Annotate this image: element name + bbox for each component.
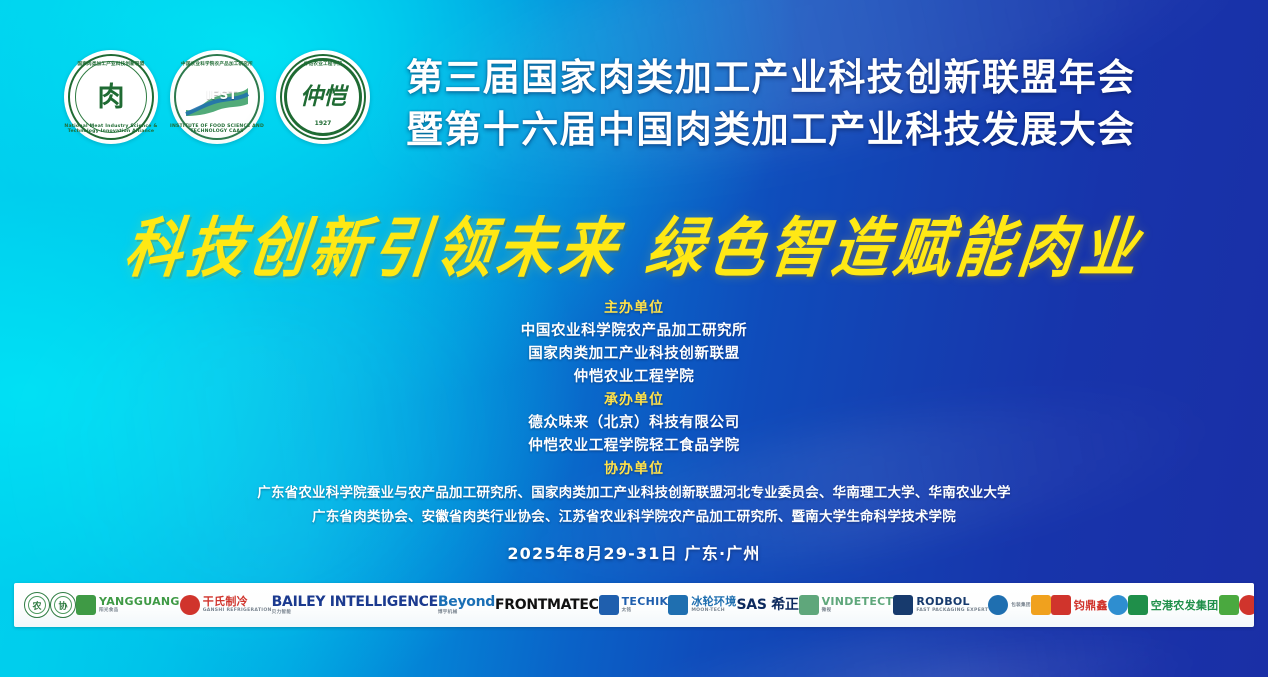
ifst-caas-emblem: 中国农业科学院农产品加工研究所 IFST INSTITUTE OF FOOD S… [170,50,264,144]
moon-tech-logo-text: 冰轮环境MOON-TECH [691,596,736,614]
green-circle-badge-1-mark: 农 [24,592,50,618]
emblem-glyph: IFST [206,88,238,102]
packaging-group-logo-subname: 包装集团 [1011,604,1031,609]
techik-logo-name: TECHIK [622,596,669,607]
ganshi-refrigeration-logo-mark [180,595,200,615]
sas-xizheng-logo-text: SAS 希正 [737,598,799,612]
sas-xizheng-logo: SAS 希正 [737,588,799,622]
junding-xin-logo-name: 钧鼎鑫 [1074,600,1108,611]
rodbol-logo-mark [893,595,913,615]
konggang-agri-logo-text: 空港农发集团 [1151,600,1219,611]
beyond-logo-subname: 博宇机械 [438,611,495,616]
title-line-2: 暨第十六届中国肉类加工产业科技发展大会 [406,104,1206,156]
event-date-location: 2025年8月29-31日 广东·广州 [0,540,1268,564]
host-item: 国家肉类加工产业科技创新联盟 [0,343,1268,366]
sponsor-logo-strip: 农协YANGGUANG阳光食品干氏制冷GANSHI REFRIGERATIONB… [14,583,1254,627]
rodbol-logo-name: RODBOL [916,596,988,607]
green-circle-badge-1: 农 [24,588,50,622]
zhongkai-university-emblem: 仲恺农业工程学院 仲恺 1927 [276,50,370,144]
bailey-intelligence-logo-name: BAILEY INTELLIGENCE [272,595,438,609]
konggang-agri-logo-mark [1128,595,1148,615]
sas-xizheng-logo-name: SAS 希正 [737,598,799,612]
ganshi-refrigeration-logo-subname: GANSHI REFRIGERATION [203,609,272,614]
frontmatec-logo: FRONTMATEC [495,588,599,622]
emblem-year: 1927 [276,120,370,127]
yangguang-logo: YANGGUANG阳光食品 [76,588,180,622]
emblem-micro-text: 中国农业科学院农产品加工研究所 [170,61,264,67]
organizer-logo-row: 国家肉类加工产业科技创新联盟 肉 National Meat Industry … [64,50,370,144]
seventy-hz-logo-mark [1239,595,1255,615]
packaging-group-logo-mark [988,595,1008,615]
techik-logo-text: TECHIK太铭 [622,596,669,614]
bailey-intelligence-logo: BAILEY INTELLIGENCE贝力智能 [272,588,438,622]
beyond-logo: Beyond博宇机械 [438,588,495,622]
packaging-group-logo-text: 包装集团 [1011,602,1031,609]
light-streak [698,624,1223,677]
green-bird-logo-mark [1219,595,1239,615]
coorganizer-heading: 协办单位 [0,458,1268,481]
date-location-text: 2025年8月29-31日 广东·广州 [507,544,760,563]
blue-drop-logo [1108,588,1128,622]
rodbol-logo: RODBOLFAST PACKAGING EXPERT [893,588,988,622]
badge-glyph: 协 [51,593,75,617]
moon-tech-logo: 冰轮环境MOON-TECH [668,588,736,622]
moon-tech-logo-name: 冰轮环境 [691,596,736,607]
green-bird-logo [1219,588,1239,622]
national-meat-alliance-emblem: 国家肉类加工产业科技创新联盟 肉 National Meat Industry … [64,50,158,144]
green-circle-badge-2-mark: 协 [50,592,76,618]
vindetect-logo: VINDETECT微视 [799,588,894,622]
blue-drop-logo-mark [1108,595,1128,615]
vindetect-logo-name: VINDETECT [822,596,894,607]
beyond-logo-text: Beyond博宇机械 [438,595,495,616]
vindetect-logo-text: VINDETECT微视 [822,596,894,614]
emblem-micro-text-en: National Meat Industry Science & Technol… [64,124,158,134]
sunrise-brand-logo [1031,588,1051,622]
techik-logo-subname: 太铭 [622,609,669,614]
packaging-group-logo: 包装集团 [988,588,1031,622]
yangguang-logo-text: YANGGUANG阳光食品 [99,596,180,614]
konggang-agri-logo-name: 空港农发集团 [1151,600,1219,611]
coorganizer-item: 广东省农业科学院蚕业与农产品加工研究所、国家肉类加工产业科技创新联盟河北专业委员… [0,481,1268,505]
conference-banner: 国家肉类加工产业科技创新联盟 肉 National Meat Industry … [0,0,1268,677]
host-item: 仲恺农业工程学院 [0,366,1268,389]
junding-xin-logo-text: 钧鼎鑫 [1074,600,1108,611]
frontmatec-logo-name: FRONTMATEC [495,598,599,612]
junding-xin-logo: 钧鼎鑫 [1051,588,1108,622]
slogan: 科技创新引领未来 绿色智造赋能肉业 [0,202,1268,284]
organizer-block: 主办单位 中国农业科学院农产品加工研究所 国家肉类加工产业科技创新联盟 仲恺农业… [0,297,1268,529]
green-circle-badge-2: 协 [50,588,76,622]
undertaker-item: 德众味来（北京）科技有限公司 [0,412,1268,435]
emblem-micro-text-en: INSTITUTE OF FOOD SCIENCE AND TECHNOLOGY… [170,124,264,134]
moon-tech-logo-mark [668,595,688,615]
host-heading: 主办单位 [0,297,1268,320]
undertaker-heading: 承办单位 [0,389,1268,412]
vindetect-logo-subname: 微视 [822,609,894,614]
yangguang-logo-subname: 阳光食品 [99,609,180,614]
ganshi-refrigeration-logo-name: 干氏制冷 [203,596,272,607]
beyond-logo-name: Beyond [438,595,495,609]
coorganizer-item: 广东省肉类协会、安徽省肉类行业协会、江苏省农业科学院农产品加工研究所、暨南大学生… [0,505,1268,529]
title-line-1: 第三届国家肉类加工产业科技创新联盟年会 [406,52,1206,104]
emblem-glyph: 仲恺 [300,86,346,109]
techik-logo: TECHIK太铭 [599,588,669,622]
slogan-text: 科技创新引领未来 绿色智造赋能肉业 [120,196,1148,289]
yangguang-logo-mark [76,595,96,615]
moon-tech-logo-subname: MOON-TECH [691,609,736,614]
badge-glyph: 农 [25,593,49,617]
sunrise-brand-logo-mark [1031,595,1051,615]
ganshi-refrigeration-logo-text: 干氏制冷GANSHI REFRIGERATION [203,596,272,614]
frontmatec-logo-text: FRONTMATEC [495,598,599,612]
page-title: 第三届国家肉类加工产业科技创新联盟年会 暨第十六届中国肉类加工产业科技发展大会 [406,52,1206,156]
bailey-intelligence-logo-subname: 贝力智能 [272,611,438,616]
emblem-micro-text: 国家肉类加工产业科技创新联盟 [64,61,158,67]
host-item: 中国农业科学院农产品加工研究所 [0,320,1268,343]
techik-logo-mark [599,595,619,615]
bailey-intelligence-logo-text: BAILEY INTELLIGENCE贝力智能 [272,595,438,616]
konggang-agri-logo: 空港农发集团 [1128,588,1219,622]
ganshi-refrigeration-logo: 干氏制冷GANSHI REFRIGERATION [180,588,272,622]
undertaker-item: 仲恺农业工程学院轻工食品学院 [0,435,1268,458]
vindetect-logo-mark [799,595,819,615]
junding-xin-logo-mark [1051,595,1071,615]
emblem-micro-text: 仲恺农业工程学院 [276,61,370,67]
emblem-glyph: 肉 [98,84,125,111]
rodbol-logo-text: RODBOLFAST PACKAGING EXPERT [916,596,988,614]
yangguang-logo-name: YANGGUANG [99,596,180,607]
seventy-hz-logo: 70HZ [1239,588,1255,622]
rodbol-logo-subname: FAST PACKAGING EXPERT [916,609,988,614]
